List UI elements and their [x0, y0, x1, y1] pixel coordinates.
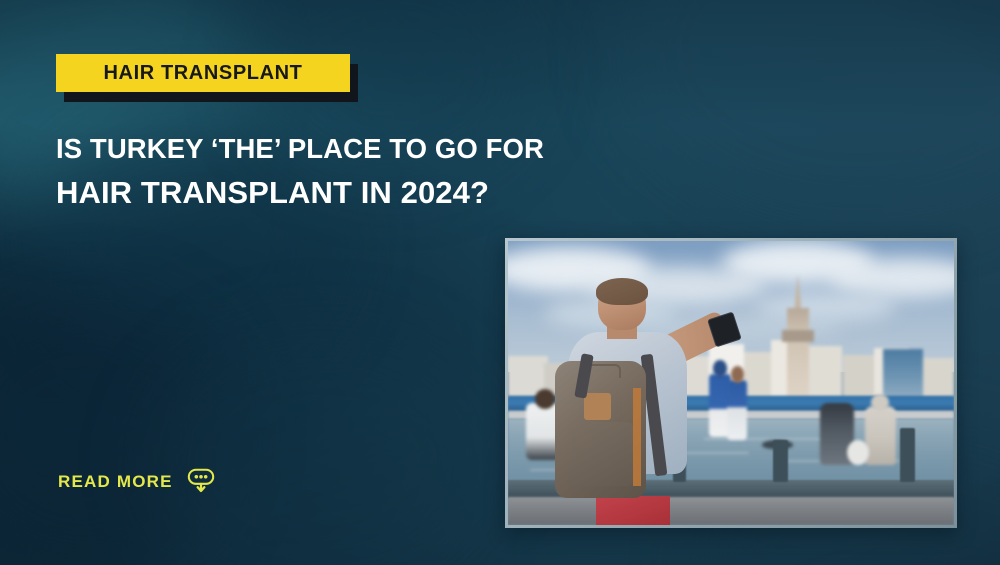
- category-badge-label: HAIR TRANSPLANT: [104, 63, 303, 83]
- category-badge[interactable]: HAIR TRANSPLANT: [56, 54, 350, 92]
- subject-backpack-pocket: [568, 422, 634, 486]
- category-badge-chip[interactable]: HAIR TRANSPLANT: [56, 54, 350, 92]
- photo-blue-building: [883, 349, 923, 397]
- article-photo[interactable]: [505, 238, 957, 528]
- photo-person: [865, 406, 896, 466]
- headline-line-1: IS TURKEY ‘THE’ PLACE TO GO FOR: [56, 134, 656, 164]
- speech-bubble-dots-icon[interactable]: [186, 466, 216, 496]
- subject-hair: [596, 278, 647, 305]
- promo-banner: HAIR TRANSPLANT IS TURKEY ‘THE’ PLACE TO…: [0, 0, 1000, 565]
- photo-bollard: [900, 428, 914, 482]
- read-more-button[interactable]: READ MORE: [58, 466, 216, 496]
- headline-line-2: HAIR TRANSPLANT IN 2024?: [56, 176, 656, 210]
- article-photo-image: [508, 241, 954, 525]
- photo-main-subject: [535, 281, 740, 525]
- subject-backpack-strip: [633, 388, 641, 486]
- page-title: IS TURKEY ‘THE’ PLACE TO GO FOR HAIR TRA…: [56, 134, 656, 210]
- photo-bollard: [773, 440, 787, 483]
- read-more-label: READ MORE: [58, 473, 173, 490]
- subject-backpack-tab: [584, 393, 611, 420]
- photo-galata-tower: [787, 308, 809, 397]
- subject-shorts: [596, 496, 670, 525]
